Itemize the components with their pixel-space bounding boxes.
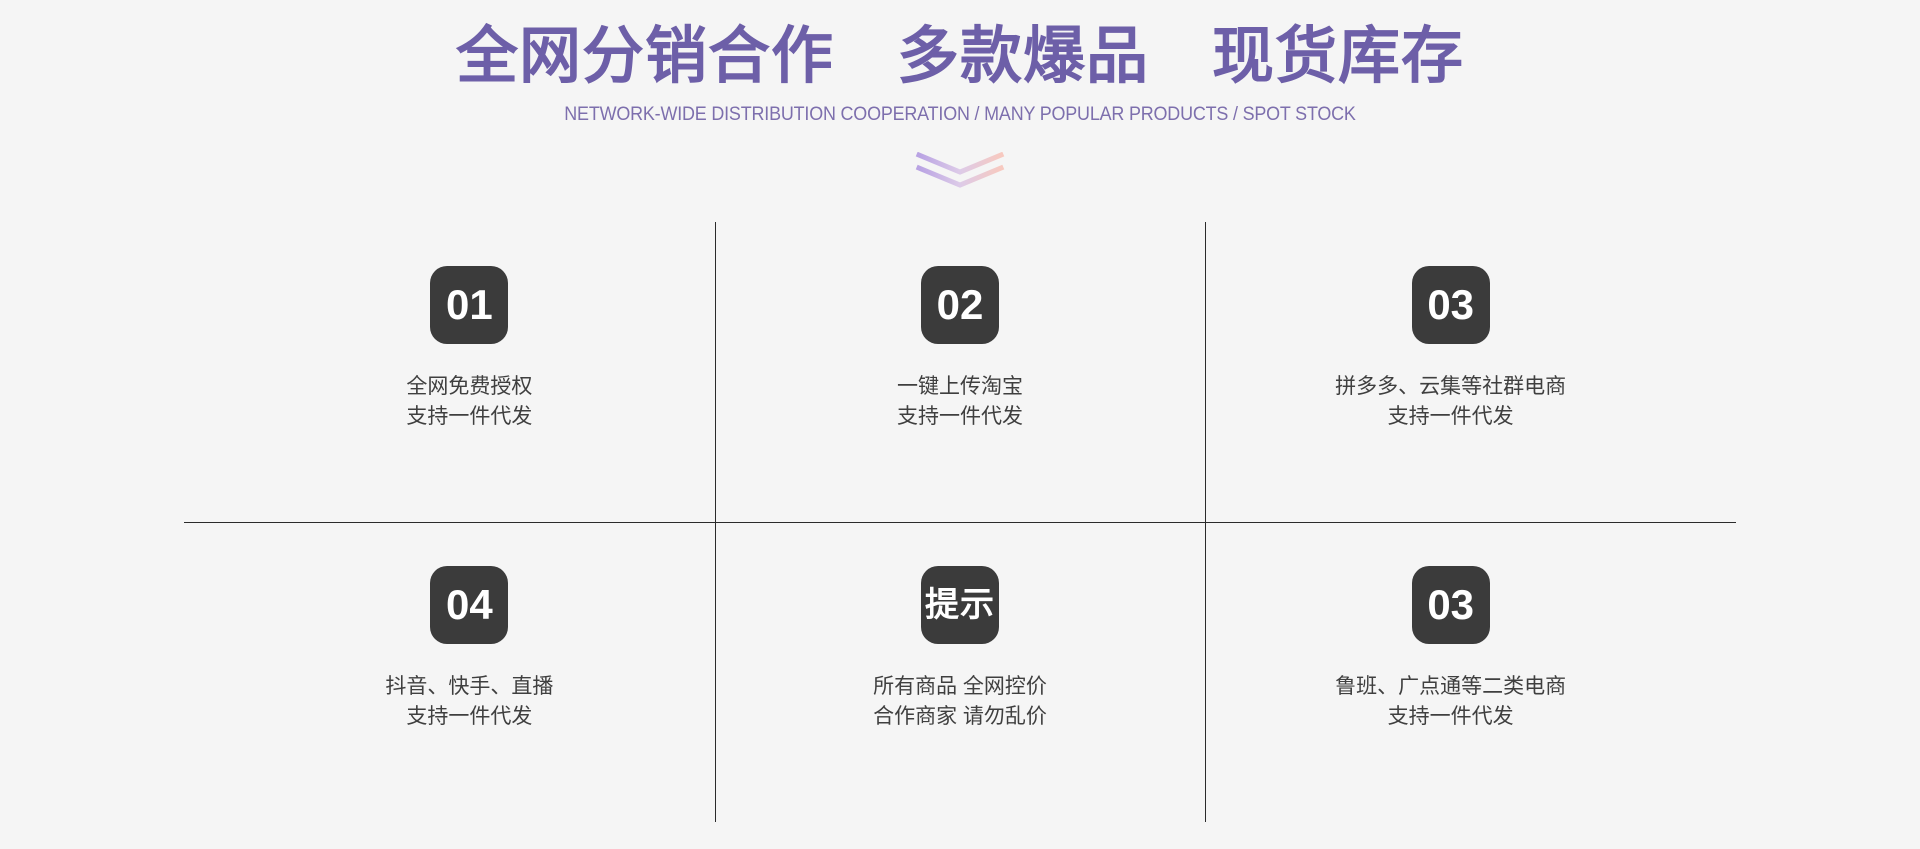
feature-text: 所有商品 全网控价 合作商家 请勿乱价 — [873, 672, 1047, 732]
feature-line-1: 全网免费授权 — [406, 372, 532, 402]
feature-line-1: 所有商品 全网控价 — [873, 672, 1047, 702]
feature-cell-06[interactable]: 03 鲁班、广点通等二类电商 支持一件代发 — [1205, 522, 1696, 822]
page-title: 全网分销合作 多款爆品 现货库存 — [0, 0, 1920, 93]
feature-text: 鲁班、广点通等二类电商 支持一件代发 — [1335, 672, 1566, 732]
feature-line-2: 合作商家 请勿乱价 — [873, 702, 1047, 732]
feature-cell-tip[interactable]: 提示 所有商品 全网控价 合作商家 请勿乱价 — [715, 522, 1206, 822]
feature-line-1: 抖音、快手、直播 — [385, 672, 553, 702]
feature-line-2: 支持一件代发 — [406, 402, 532, 432]
feature-line-2: 支持一件代发 — [1335, 402, 1566, 432]
step-badge: 04 — [430, 566, 508, 644]
page-subtitle: NETWORK-WIDE DISTRIBUTION COOPERATION / … — [77, 93, 1843, 126]
feature-line-1: 一键上传淘宝 — [897, 372, 1023, 402]
feature-line-1: 拼多多、云集等社群电商 — [1335, 372, 1566, 402]
feature-cell-03[interactable]: 03 拼多多、云集等社群电商 支持一件代发 — [1205, 222, 1696, 522]
promo-banner-page: 全网分销合作 多款爆品 现货库存 NETWORK-WIDE DISTRIBUTI… — [0, 0, 1920, 849]
feature-line-2: 支持一件代发 — [385, 702, 553, 732]
step-badge: 02 — [921, 266, 999, 344]
feature-row-1: 01 全网免费授权 支持一件代发 02 一键上传淘宝 支持一件代发 03 拼多多… — [224, 222, 1696, 522]
feature-text: 全网免费授权 支持一件代发 — [406, 372, 532, 432]
feature-grid: 01 全网免费授权 支持一件代发 02 一键上传淘宝 支持一件代发 03 拼多多… — [224, 222, 1696, 822]
double-chevron-down-icon — [915, 152, 1005, 188]
header: 全网分销合作 多款爆品 现货库存 NETWORK-WIDE DISTRIBUTI… — [0, 0, 1920, 127]
feature-text: 拼多多、云集等社群电商 支持一件代发 — [1335, 372, 1566, 432]
step-badge: 03 — [1412, 566, 1490, 644]
step-badge: 03 — [1412, 266, 1490, 344]
horizontal-divider — [184, 522, 1736, 523]
feature-cell-04[interactable]: 04 抖音、快手、直播 支持一件代发 — [224, 522, 715, 822]
tip-badge: 提示 — [921, 566, 999, 644]
feature-line-2: 支持一件代发 — [1335, 702, 1566, 732]
feature-row-2: 04 抖音、快手、直播 支持一件代发 提示 所有商品 全网控价 合作商家 请勿乱… — [224, 522, 1696, 822]
feature-line-1: 鲁班、广点通等二类电商 — [1335, 672, 1566, 702]
feature-line-2: 支持一件代发 — [897, 402, 1023, 432]
feature-cell-02[interactable]: 02 一键上传淘宝 支持一件代发 — [715, 222, 1206, 522]
feature-text: 抖音、快手、直播 支持一件代发 — [385, 672, 553, 732]
step-badge: 01 — [430, 266, 508, 344]
feature-text: 一键上传淘宝 支持一件代发 — [897, 372, 1023, 432]
feature-cell-01[interactable]: 01 全网免费授权 支持一件代发 — [224, 222, 715, 522]
